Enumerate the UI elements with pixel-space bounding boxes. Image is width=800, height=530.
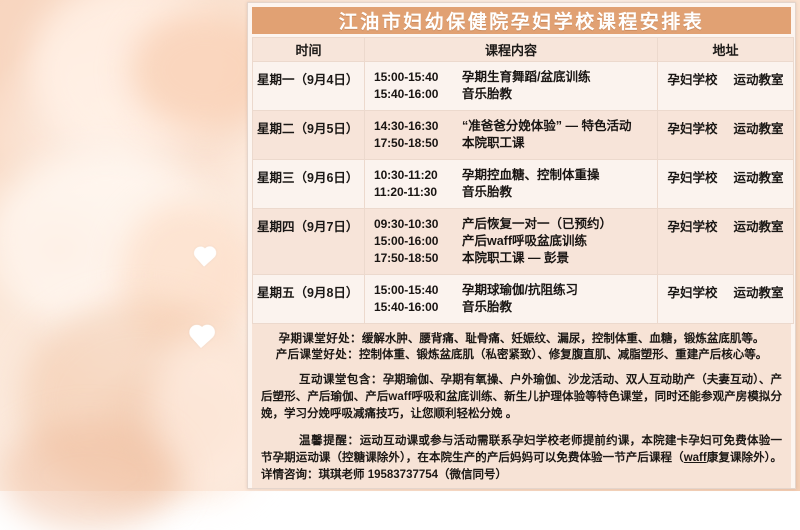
schedule-poster-card: 江油市妇幼保健院孕妇学校课程安排表 时间 课程内容 地址 星期一（9月4日）15… <box>247 2 796 489</box>
cell-course-list: 10:30-11:20孕期控血糖、控制体重操11:20-11:30音乐胎教 <box>365 160 658 209</box>
cell-day: 星期一（9月4日） <box>253 62 365 111</box>
course-time: 15:40-16:00 <box>374 299 462 316</box>
course-slot: 10:30-11:20孕期控血糖、控制体重操 <box>374 167 651 184</box>
cell-address: 孕妇学校运动教室 <box>658 111 794 160</box>
column-header-address: 地址 <box>658 38 794 62</box>
course-name: 孕期控血糖、控制体重操 <box>462 167 600 184</box>
page-title: 江油市妇幼保健院孕妇学校课程安排表 <box>252 7 791 34</box>
course-name: 本院职工课 <box>462 135 525 152</box>
course-name: 孕期生育舞蹈/盆底训练 <box>462 69 590 86</box>
address-secondary: 运动教室 <box>734 122 784 136</box>
course-name: 音乐胎教 <box>462 184 512 201</box>
course-time: 17:50-18:50 <box>374 250 462 267</box>
cell-address: 孕妇学校运动教室 <box>658 275 794 324</box>
course-slot: 09:30-10:30产后恢复一对一（已预约） <box>374 216 651 233</box>
benefit-postpartum-text: 控制体重、锻炼盆底肌（私密紧致）、修复腹直肌、减脂塑形、重建产后核心等。 <box>359 349 767 361</box>
cell-course-list: 14:30-16:30“准爸爸分娩体验” — 特色活动17:50-18:50本院… <box>365 111 658 160</box>
table-header-row: 时间 课程内容 地址 <box>253 38 794 62</box>
address-primary: 孕妇学校 <box>667 171 717 185</box>
course-name: 音乐胎教 <box>462 299 512 316</box>
course-slot: 15:00-16:00产后waff呼吸盆底训练 <box>374 233 651 250</box>
cell-course-list: 15:00-15:40孕期球瑜伽/抗阻练习15:40-16:00音乐胎教 <box>365 275 658 324</box>
benefit-postpartum: 产后课堂好处：控制体重、锻炼盆底肌（私密紧致）、修复腹直肌、减脂塑形、重建产后核… <box>261 347 782 363</box>
cell-address: 孕妇学校运动教室 <box>658 62 794 111</box>
table-row: 星期三（9月6日）10:30-11:20孕期控血糖、控制体重操11:20-11:… <box>253 160 794 209</box>
course-time: 17:50-18:50 <box>374 135 462 152</box>
notes-section: 孕期课堂好处：缓解水肿、腰背痛、耻骨痛、妊娠纹、漏尿，控制体重、血糖，锻炼盆底肌… <box>252 324 791 489</box>
interactive-classes-paragraph: 互动课堂包含：孕期瑜伽、孕期有氧操、户外瑜伽、沙龙活动、双人互动助产（夫妻互动）… <box>261 372 782 423</box>
course-time: 14:30-16:30 <box>374 118 462 135</box>
course-name: 产后恢复一对一（已预约） <box>462 216 612 233</box>
cell-course-list: 09:30-10:30产后恢复一对一（已预约）15:00-16:00产后waff… <box>365 209 658 275</box>
schedule-table: 时间 课程内容 地址 星期一（9月4日）15:00-15:40孕期生育舞蹈/盆底… <box>252 37 794 324</box>
course-name: 音乐胎教 <box>462 86 512 103</box>
course-slot: 15:00-15:40孕期生育舞蹈/盆底训练 <box>374 69 651 86</box>
course-time: 15:00-15:40 <box>374 282 462 299</box>
course-slot: 17:50-18:50本院职工课 <box>374 135 651 152</box>
cell-day: 星期二（9月5日） <box>253 111 365 160</box>
course-slot: 15:00-15:40孕期球瑜伽/抗阻练习 <box>374 282 651 299</box>
column-header-time: 时间 <box>253 38 365 62</box>
course-slot: 15:40-16:00音乐胎教 <box>374 86 651 103</box>
course-time: 15:00-15:40 <box>374 69 462 86</box>
address-secondary: 运动教室 <box>734 220 784 234</box>
course-time: 10:30-11:20 <box>374 167 462 184</box>
cell-course-list: 15:00-15:40孕期生育舞蹈/盆底训练15:40-16:00音乐胎教 <box>365 62 658 111</box>
course-time: 15:00-16:00 <box>374 233 462 250</box>
column-header-course: 课程内容 <box>365 38 658 62</box>
cell-address: 孕妇学校运动教室 <box>658 209 794 275</box>
address-secondary: 运动教室 <box>734 171 784 185</box>
address-primary: 孕妇学校 <box>667 220 717 234</box>
benefit-pregnancy-label: 孕期课堂好处： <box>279 333 362 345</box>
table-row: 星期二（9月5日）14:30-16:30“准爸爸分娩体验” — 特色活动17:5… <box>253 111 794 160</box>
table-row: 星期五（9月8日）15:00-15:40孕期球瑜伽/抗阻练习15:40-16:0… <box>253 275 794 324</box>
course-slot: 17:50-18:50本院职工课 — 彭景 <box>374 250 651 267</box>
cell-day: 星期四（9月7日） <box>253 209 365 275</box>
interactive-classes-label: 互动课堂包含： <box>299 374 383 386</box>
benefit-pregnancy-text: 缓解水肿、腰背痛、耻骨痛、妊娠纹、漏尿，控制体重、血糖，锻炼盆底肌等。 <box>362 333 765 345</box>
tip-label: 温馨提醒： <box>299 435 360 447</box>
tip-underlined-term: waff <box>684 452 707 464</box>
table-row: 星期一（9月4日）15:00-15:40孕期生育舞蹈/盆底训练15:40-16:… <box>253 62 794 111</box>
course-time: 11:20-11:30 <box>374 184 462 201</box>
photo-blur-blob <box>0 420 180 530</box>
cell-day: 星期三（9月6日） <box>253 160 365 209</box>
course-name: 本院职工课 — 彭景 <box>462 250 569 267</box>
address-primary: 孕妇学校 <box>667 286 717 300</box>
course-slot: 11:20-11:30音乐胎教 <box>374 184 651 201</box>
course-slot: 15:40-16:00音乐胎教 <box>374 299 651 316</box>
course-time: 09:30-10:30 <box>374 216 462 233</box>
cell-address: 孕妇学校运动教室 <box>658 160 794 209</box>
benefit-postpartum-label: 产后课堂好处： <box>276 349 359 361</box>
address-secondary: 运动教室 <box>734 73 784 87</box>
tip-paragraph: 温馨提醒：运动互动课或参与活动需联系孕妇学校老师提前约课，本院建卡孕妇可免费体验… <box>261 433 782 484</box>
course-name: 孕期球瑜伽/抗阻练习 <box>462 282 578 299</box>
course-name: 产后waff呼吸盆底训练 <box>462 233 587 250</box>
address-primary: 孕妇学校 <box>667 73 717 87</box>
course-slot: 14:30-16:30“准爸爸分娩体验” — 特色活动 <box>374 118 651 135</box>
course-name: “准爸爸分娩体验” — 特色活动 <box>462 118 631 135</box>
address-secondary: 运动教室 <box>734 286 784 300</box>
cell-day: 星期五（9月8日） <box>253 275 365 324</box>
course-time: 15:40-16:00 <box>374 86 462 103</box>
address-primary: 孕妇学校 <box>667 122 717 136</box>
table-row: 星期四（9月7日）09:30-10:30产后恢复一对一（已预约）15:00-16… <box>253 209 794 275</box>
benefit-pregnancy: 孕期课堂好处：缓解水肿、腰背痛、耻骨痛、妊娠纹、漏尿，控制体重、血糖，锻炼盆底肌… <box>261 331 782 347</box>
